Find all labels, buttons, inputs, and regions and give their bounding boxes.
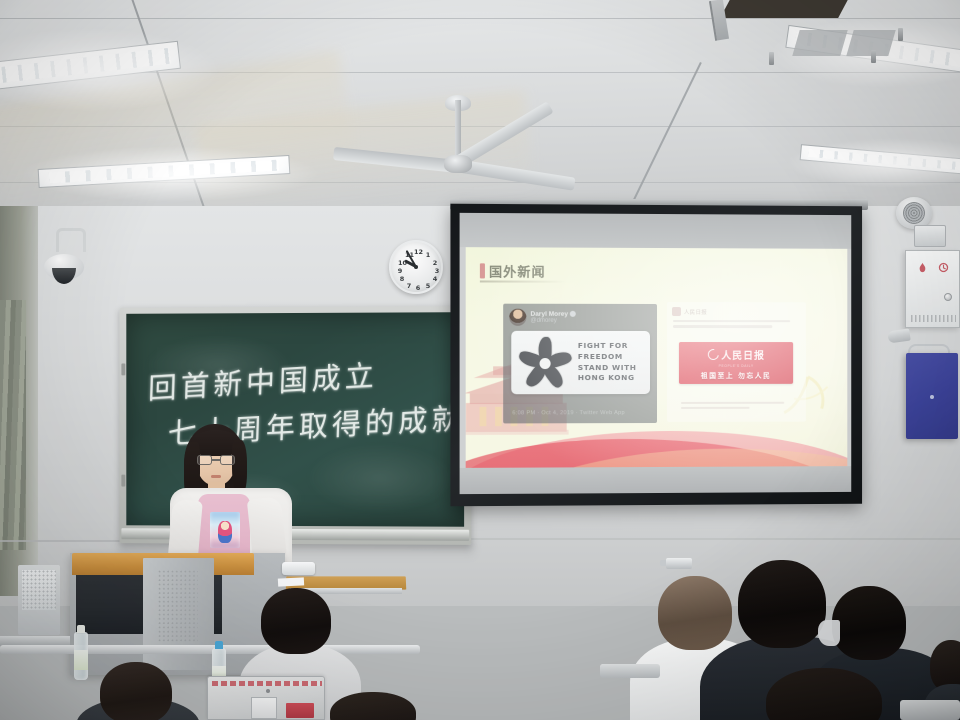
student-head [658, 576, 732, 650]
tshirt-graphic-print [210, 512, 240, 548]
panel-button-strip[interactable] [911, 315, 956, 322]
podium-monitor [18, 565, 60, 635]
weibo-text-placeholder [667, 316, 806, 328]
presentation-slide: 国外新闻 Daryl Morey @dmorey [466, 247, 848, 468]
tweet-handle: @dmorey [530, 318, 576, 325]
clock-face: 12 1 2 3 4 5 6 7 8 9 10 11 [395, 246, 437, 288]
tweet-display-name-row: Daryl Morey [530, 310, 576, 317]
slide-title: 国外新闻 [489, 261, 546, 280]
slogan-line-4: HONG KONG [578, 373, 637, 384]
wall-control-panel [905, 250, 960, 328]
wall-hook [666, 558, 692, 569]
dome-camera [44, 248, 86, 290]
banner-logo-row: 人民日报 [707, 347, 765, 362]
list-item [82, 662, 192, 720]
clock-numeral: 7 [405, 282, 413, 290]
panel-logo-row [906, 251, 959, 273]
peoples-daily-banner: 人民日报 PEOPLE'S DAILY 祖国至上 勿忘人民 [679, 342, 793, 384]
wall-clock: 12 1 2 3 4 5 6 7 8 9 10 11 [389, 240, 443, 294]
ceiling-vent-panel-1 [792, 30, 847, 56]
audience-laptop[interactable] [207, 676, 325, 720]
classroom-photo: 12 1 2 3 4 5 6 7 8 9 10 11 回首新中国成立 七十周年取… [0, 0, 960, 720]
front-row-desk-rail [0, 645, 420, 654]
fan-hub [444, 155, 472, 173]
slide-title-group: 国外新闻 [480, 261, 546, 280]
suspended-ceiling [0, 0, 960, 215]
laptop-lid-stripe [212, 681, 322, 686]
student-head [261, 588, 331, 654]
slogan-line-2: FREEDOM [578, 352, 637, 363]
peoples-daily-logo-icon [705, 346, 720, 361]
alarm-bell-icon [938, 262, 949, 273]
screen-bottom-band [460, 466, 852, 494]
student-presenter [158, 424, 306, 566]
weibo-header: 人民日报 [667, 302, 806, 316]
tweet-screenshot-card: Daryl Morey @dmorey [503, 304, 657, 424]
camera-lens [52, 268, 76, 284]
fire-safety-icon [917, 262, 928, 273]
slide-title-underline [480, 280, 567, 282]
laptop-sticker-white [251, 697, 277, 719]
student-head [100, 662, 172, 720]
weibo-footer-placeholder [681, 401, 788, 412]
fan-rod [455, 100, 461, 160]
paper-sheet [278, 577, 304, 586]
clock-numeral: 1 [424, 251, 432, 259]
speaker-grille [903, 202, 925, 224]
monitor-speaker-grille [22, 570, 56, 610]
banner-headline: 祖国至上 勿忘人民 [701, 369, 772, 379]
tweet-timestamp: 6:08 PM · Oct 4, 2019 · Twitter Web App [512, 410, 625, 416]
banner-logo-text: 人民日报 [721, 347, 765, 362]
student-head [738, 560, 826, 648]
weibo-account-name: 人民日报 [684, 308, 707, 316]
laptop-sticker-red [286, 703, 314, 718]
tweet-author-block: Daryl Morey @dmorey [530, 310, 576, 324]
seat-back [600, 664, 660, 678]
tweet-display-name: Daryl Morey [530, 310, 568, 317]
desktop-projector [282, 562, 315, 575]
clock-numeral: 2 [431, 259, 439, 267]
seat-back [900, 700, 960, 720]
tweet-attached-image: FIGHT FOR FREEDOM STAND WITH HONG KONG [511, 331, 650, 394]
slogan-line-1: FIGHT FOR [578, 341, 637, 352]
list-item [330, 692, 420, 720]
presenter-mouth [211, 475, 221, 478]
screen-top-band [460, 213, 852, 249]
projection-screen: 国外新闻 Daryl Morey @dmorey [450, 204, 862, 507]
presenter-glasses [197, 455, 235, 465]
student-head [330, 692, 416, 720]
bauhinia-flower-icon [517, 336, 571, 388]
weibo-post-card: 人民日报 人民日报 PEOPLE'S DAILY 祖国至上 勿忘人民 [667, 302, 806, 422]
clock-numeral: 4 [431, 275, 439, 283]
student-head [832, 586, 906, 660]
print-figure [218, 521, 232, 543]
clock-numeral: 12 [414, 248, 422, 256]
slogan-line-3: STAND WITH [578, 363, 637, 374]
clock-numeral: 6 [414, 284, 422, 292]
list-item [766, 668, 886, 720]
tweet-image-slogan: FIGHT FOR FREEDOM STAND WITH HONG KONG [578, 341, 637, 383]
tower-vent-grille [158, 570, 198, 642]
clock-numeral: 3 [433, 267, 441, 275]
clock-numeral: 8 [398, 275, 406, 283]
ceiling-beam-shadow [720, 0, 850, 18]
ceiling-light-fixture-4 [800, 144, 960, 176]
panel-indicator-light[interactable] [944, 293, 952, 301]
clock-center-pin [414, 265, 418, 269]
student-head [766, 668, 882, 720]
wall-junction-box [914, 225, 946, 247]
avatar [672, 307, 681, 316]
clock-numeral: 9 [396, 267, 404, 275]
screen-canvas: 国外新闻 Daryl Morey @dmorey [460, 213, 852, 494]
board-marker-dot [930, 395, 934, 399]
title-accent-tick [480, 263, 485, 278]
avatar [509, 309, 526, 326]
tweet-header: Daryl Morey @dmorey [503, 304, 657, 329]
clock-numeral: 5 [424, 282, 432, 290]
face-mask [818, 620, 840, 646]
window-curtain [0, 300, 26, 550]
verified-badge-icon [570, 311, 576, 317]
laptop-camera-dot [266, 689, 270, 693]
banner-logo-subtitle: PEOPLE'S DAILY [719, 363, 754, 367]
